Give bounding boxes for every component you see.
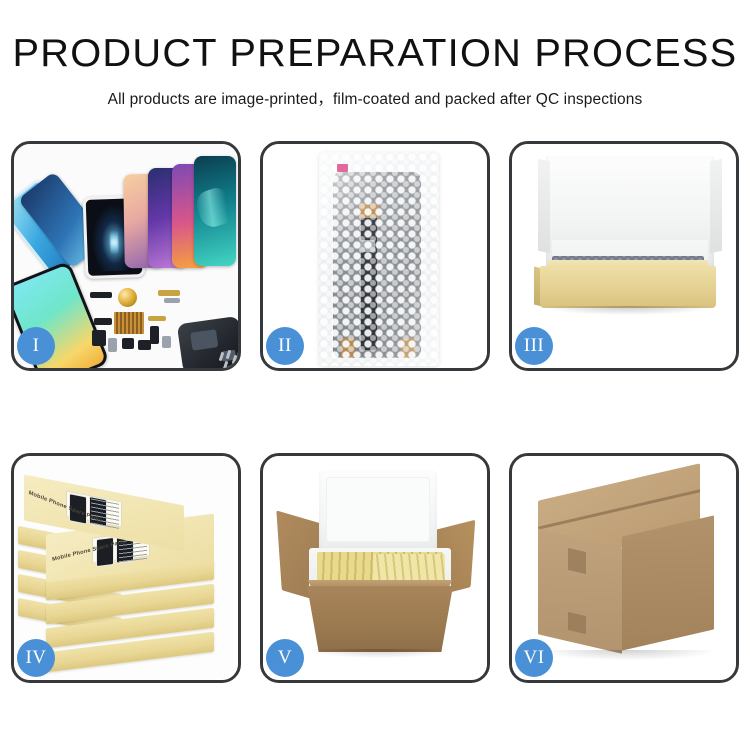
process-step-2: II (260, 141, 490, 371)
step-badge-5: V (266, 639, 304, 677)
carton-left-face (538, 528, 622, 653)
step-badge-2: II (266, 327, 304, 365)
step-badge-1: I (17, 327, 55, 365)
foam-box-lid (319, 470, 437, 552)
page-header: PRODUCT PREPARATION PROCESS All products… (0, 0, 750, 109)
carton-tape-upper (568, 548, 586, 574)
kraft-tray-front (540, 266, 716, 308)
yellow-boxes-row-2 (373, 554, 445, 584)
pink-qc-sticker (337, 164, 348, 172)
step-badge-6: VI (515, 639, 553, 677)
box-stack: Mobile Phone Spare Parts Mobile Phone Sp… (18, 474, 238, 674)
process-step-3: III (509, 141, 739, 371)
page-subtitle: All products are image-printed，film-coat… (0, 87, 750, 109)
speaker-part (118, 288, 137, 307)
screws-group (218, 350, 238, 368)
carton-tape-lower (568, 612, 586, 634)
process-step-5: V (260, 453, 490, 683)
step-badge-4: IV (17, 639, 55, 677)
page-title: PRODUCT PREPARATION PROCESS (0, 34, 750, 73)
process-step-1: I (11, 141, 241, 371)
process-step-4: Mobile Phone Spare Parts Mobile Phone Sp… (11, 453, 241, 683)
process-step-6: VI (509, 453, 739, 683)
spare-parts-cluster (90, 286, 238, 368)
bubble-wrap-package (319, 152, 439, 366)
carton-right-face (622, 515, 714, 650)
teal-phone-screen (194, 156, 236, 266)
carton-front-panel (307, 586, 453, 652)
step-badge-3: III (515, 327, 553, 365)
process-step-grid: I II (11, 141, 739, 683)
